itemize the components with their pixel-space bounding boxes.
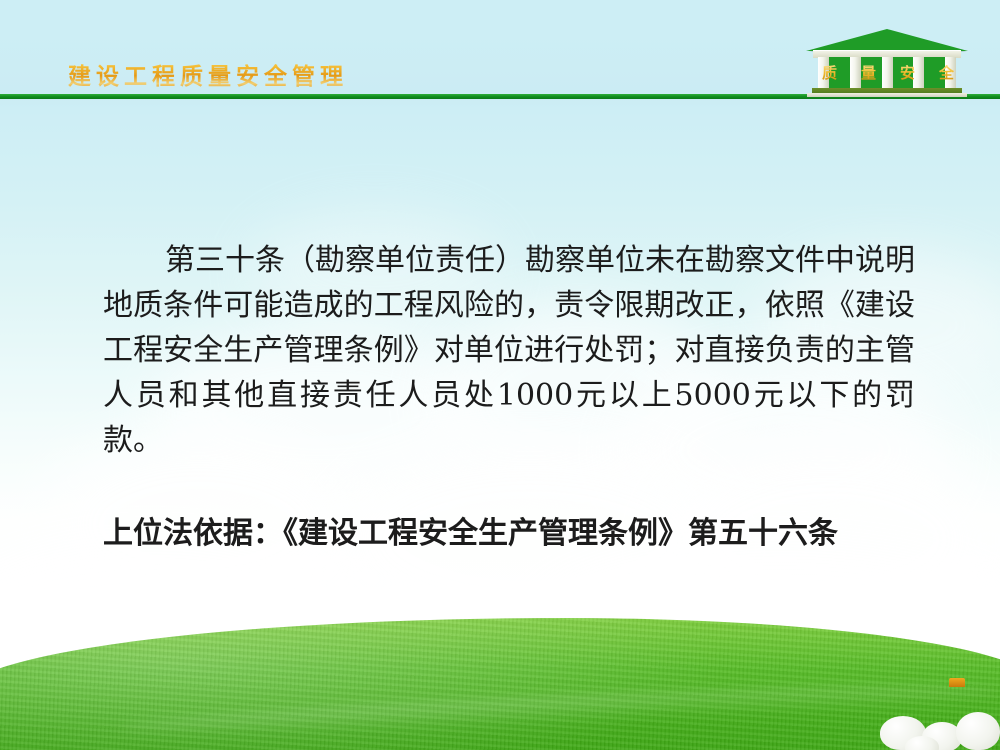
page-title: 建设工程质量安全管理 xyxy=(68,57,348,91)
grass-field xyxy=(0,600,1000,750)
quality-safety-temple-logo: 质 量 安 全 xyxy=(806,29,968,97)
article-paragraph: 第三十条（勘察单位责任）勘察单位未在勘察文件中说明地质条件可能造成的工程风险的，… xyxy=(103,238,915,463)
distant-hut-icon xyxy=(949,678,965,687)
slide-canvas: 建设工程质量安全管理 质 量 安 全 第三十条（勘察单位责任）勘察单位未在勘察文… xyxy=(0,0,1000,750)
logo-char-liang: 量 xyxy=(861,62,876,83)
logo-char-zhi: 质 xyxy=(822,62,837,83)
temple-base-lower xyxy=(807,93,967,97)
legal-basis-paragraph: 上位法依据：《建设工程安全生产管理条例》第五十六条 xyxy=(103,511,915,556)
logo-text: 质 量 安 全 xyxy=(822,62,954,83)
sheep-icon xyxy=(956,712,1000,750)
slide-body: 第三十条（勘察单位责任）勘察单位未在勘察文件中说明地质条件可能造成的工程风险的，… xyxy=(103,238,915,556)
pediment-icon xyxy=(806,29,968,51)
logo-char-an: 安 xyxy=(900,62,915,83)
logo-char-quan: 全 xyxy=(939,62,954,83)
